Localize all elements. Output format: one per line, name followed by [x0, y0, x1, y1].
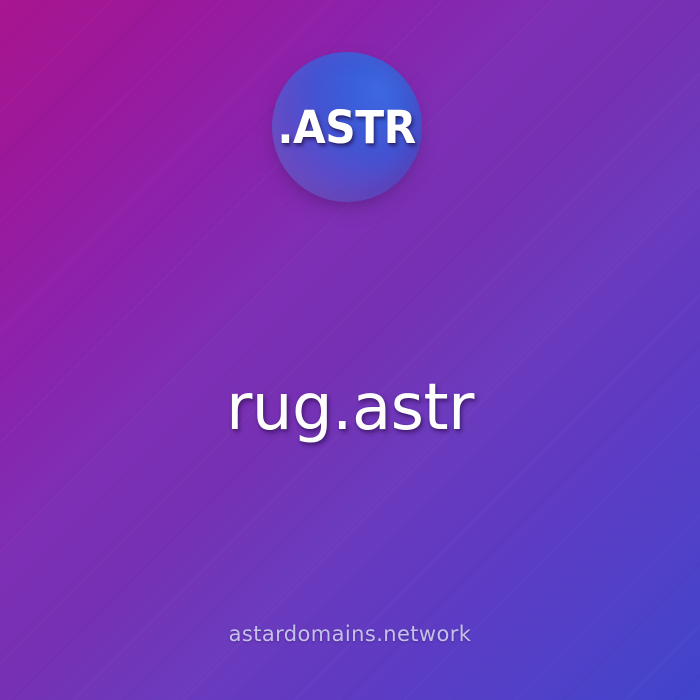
- logo-label: .ASTR: [278, 105, 416, 150]
- footer-site-url: astardomains.network: [0, 620, 700, 648]
- domain-card: .ASTR rug.astr astardomains.network: [0, 0, 700, 700]
- astr-tld-badge-icon: .ASTR: [272, 52, 422, 202]
- page-title: rug.astr: [0, 370, 700, 446]
- logo-badge: .ASTR: [272, 52, 422, 202]
